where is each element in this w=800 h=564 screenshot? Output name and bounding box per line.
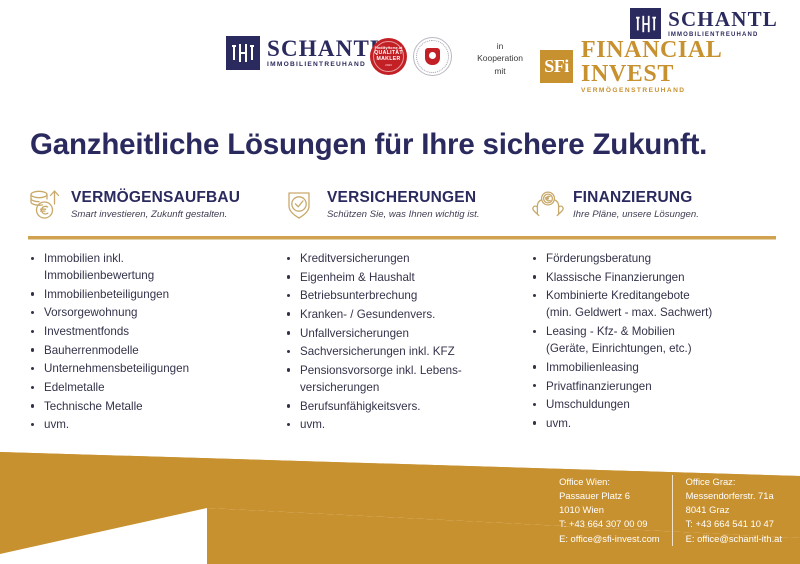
list-item-text: Klassische Finanzierungen xyxy=(546,269,776,286)
list-item: Eigenheim & Haushalt xyxy=(284,269,530,286)
list-item-text: Umschuldungen xyxy=(546,396,776,413)
list-item: Sachversicherungen inkl. KFZ xyxy=(284,343,530,360)
list-item: Technische Metalle xyxy=(28,398,284,415)
column-header: VERSICHERUNGEN Schützen Sie, was Ihnen w… xyxy=(284,186,530,232)
schantl-subtitle-topright: IMMOBILIENTREUHAND xyxy=(668,32,778,38)
hands-holding-coin-icon xyxy=(530,187,564,223)
schantl-name-topright: SCHANTL xyxy=(668,9,778,30)
list-item-text: Leasing - Kfz- & Mobilien xyxy=(546,323,776,340)
office-graz-block: Office Graz: Messendorferstr. 71a 8041 G… xyxy=(672,475,782,546)
list-item-text: Kombinierte Kreditangebote xyxy=(546,287,776,304)
list-versicherungen: KreditversicherungenEigenheim & Haushalt… xyxy=(284,250,530,434)
office-wien-phone[interactable]: T: +43 664 307 00 09 xyxy=(559,517,660,531)
list-item-text: Edelmetalle xyxy=(44,379,284,396)
list-item: Immobilien inkl.Immobilienbewertung xyxy=(28,250,284,284)
list-item: Leasing - Kfz- & Mobilien(Geräte, Einric… xyxy=(530,323,776,357)
list-item-text: Eigenheim & Haushalt xyxy=(300,269,530,286)
coins-euro-growth-icon xyxy=(28,187,62,223)
office-graz-phone[interactable]: T: +43 664 541 10 47 xyxy=(686,517,782,531)
column-subtitle: Schützen Sie, was Ihnen wichtig ist. xyxy=(327,209,480,220)
list-item: Immobilienbeteiligungen xyxy=(28,286,284,303)
list-item-text: Vorsorgewohnung xyxy=(44,304,284,321)
column-subtitle: Ihre Pläne, unsere Lösungen. xyxy=(573,209,699,220)
sfi-wordmark: FINANCIAL INVEST VERMÖGENSTREUHAND xyxy=(581,38,800,95)
list-item: Förderungsberatung xyxy=(530,250,776,267)
list-item: Vorsorgewohnung xyxy=(28,304,284,321)
list-item-text: uvm. xyxy=(44,416,284,433)
flyer-page: SCHANTL IMMOBILIENTREUHAND FindMyHome.at… xyxy=(0,0,800,564)
list-item: Pensionsvorsorge inkl. Lebens-versicheru… xyxy=(284,362,530,396)
coop-line-3: mit xyxy=(494,66,505,76)
schantl-logo-topright: SCHANTL IMMOBILIENTREUHAND xyxy=(630,8,778,39)
office-wien-city: 1010 Wien xyxy=(559,503,660,517)
column-titles: VERSICHERUNGEN Schützen Sie, was Ihnen w… xyxy=(327,186,480,220)
cooperation-text: in Kooperation mit xyxy=(477,40,523,77)
list-finanzierung: FörderungsberatungKlassische Finanzierun… xyxy=(530,250,776,432)
list-item-text: Unternehmensbeteiligungen xyxy=(44,360,284,377)
office-wien-title: Office Wien: xyxy=(559,475,660,489)
list-item: Unternehmensbeteiligungen xyxy=(28,360,284,377)
list-item-text-cont: versicherungen xyxy=(300,379,530,396)
list-item: Privatfinanzierungen xyxy=(530,378,776,395)
list-item-text: Betriebsunterbrechung xyxy=(300,287,530,304)
list-item: uvm. xyxy=(284,416,530,433)
column-versicherungen: VERSICHERUNGEN Schützen Sie, was Ihnen w… xyxy=(284,186,530,232)
list-item: Umschuldungen xyxy=(530,396,776,413)
list-item: uvm. xyxy=(28,416,284,433)
list-item-text-cont: Immobilienbewertung xyxy=(44,267,284,284)
office-graz-city: 8041 Graz xyxy=(686,503,782,517)
list-item-text: Pensionsvorsorge inkl. Lebens- xyxy=(300,362,530,379)
contact-blocks: Office Wien: Passauer Platz 6 1010 Wien … xyxy=(559,475,782,546)
schantl-wordmark-topright: SCHANTL IMMOBILIENTREUHAND xyxy=(668,9,778,38)
list-item-text: Unfallversicherungen xyxy=(300,325,530,342)
list-item-text: Technische Metalle xyxy=(44,398,284,415)
office-graz-street: Messendorferstr. 71a xyxy=(686,489,782,503)
list-item-text: Berufsunfähigkeitsvers. xyxy=(300,398,530,415)
list-item: Kranken- / Gesundenvers. xyxy=(284,306,530,323)
office-graz-title: Office Graz: xyxy=(686,475,782,489)
office-graz-email[interactable]: E: office@schantl-ith.at xyxy=(686,532,782,546)
coop-line-1: in xyxy=(497,41,504,51)
list-item-text: Sachversicherungen inkl. KFZ xyxy=(300,343,530,360)
column-finanzierung: FINANZIERUNG Ihre Pläne, unsere Lösungen… xyxy=(530,186,776,232)
list-item: Unfallversicherungen xyxy=(284,325,530,342)
list-item: Investmentfonds xyxy=(28,323,284,340)
column-titles: VERMÖGENSAUFBAU Smart investieren, Zukun… xyxy=(71,186,240,220)
list-item-text: Bauherrenmodelle xyxy=(44,342,284,359)
column-title: VERSICHERUNGEN xyxy=(327,189,480,206)
list-item-text: Kreditversicherungen xyxy=(300,250,530,267)
list-vermoegensaufbau: Immobilien inkl.ImmobilienbewertungImmob… xyxy=(28,250,284,434)
list-item-text: Immobilienleasing xyxy=(546,359,776,376)
qualitaets-makler-seal-icon: FindMyHome.at QUALITÄTMAKLER 2023 xyxy=(370,38,407,75)
page-title: Ganzheitliche Lösungen für Ihre sichere … xyxy=(30,128,707,162)
list-item-text-cont: (Geräte, Einrichtungen, etc.) xyxy=(546,340,776,357)
office-wien-block: Office Wien: Passauer Platz 6 1010 Wien … xyxy=(559,475,672,546)
logo-bar: SCHANTL IMMOBILIENTREUHAND FindMyHome.at… xyxy=(0,0,800,100)
seal-line1: FindMyHome.at xyxy=(375,46,403,50)
list-item: Edelmetalle xyxy=(28,379,284,396)
schantl-wordmark: SCHANTL IMMOBILIENTREUHAND xyxy=(267,37,387,69)
list-item: Betriebsunterbrechung xyxy=(284,287,530,304)
list-item-text-cont: (min. Geldwert - max. Sachwert) xyxy=(546,304,776,321)
sfi-financial-invest-logo: SFi FINANCIAL INVEST VERMÖGENSTREUHAND xyxy=(540,38,800,95)
ith-monogram-icon xyxy=(226,36,260,70)
list-item-text: Privatfinanzierungen xyxy=(546,378,776,395)
list-item: Klassische Finanzierungen xyxy=(530,269,776,286)
office-wien-email[interactable]: E: office@sfi-invest.com xyxy=(559,532,660,546)
list-item: Immobilienleasing xyxy=(530,359,776,376)
list-item-text: uvm. xyxy=(300,416,530,433)
list-item-text: Immobilien inkl. xyxy=(44,250,284,267)
immobilientreuhaender-seal-icon xyxy=(413,37,452,76)
schantl-name: SCHANTL xyxy=(267,37,387,60)
sfi-monogram-icon: SFi xyxy=(540,50,573,83)
list-item-text: Förderungsberatung xyxy=(546,250,776,267)
service-columns-lists: Immobilien inkl.ImmobilienbewertungImmob… xyxy=(28,250,776,435)
column-titles: FINANZIERUNG Ihre Pläne, unsere Lösungen… xyxy=(573,186,699,220)
column-vermoegensaufbau: VERMÖGENSAUFBAU Smart investieren, Zukun… xyxy=(28,186,284,232)
sfi-name: FINANCIAL INVEST xyxy=(581,38,800,86)
list-item-text: Investmentfonds xyxy=(44,323,284,340)
seal-line3: 2023 xyxy=(385,63,392,67)
column-header: FINANZIERUNG Ihre Pläne, unsere Lösungen… xyxy=(530,186,776,232)
list-item-text: uvm. xyxy=(546,415,776,432)
column-title: FINANZIERUNG xyxy=(573,189,699,206)
schantl-subtitle: IMMOBILIENTREUHAND xyxy=(267,62,387,69)
list-item-text: Kranken- / Gesundenvers. xyxy=(300,306,530,323)
column-subtitle: Smart investieren, Zukunft gestalten. xyxy=(71,209,240,220)
column-title: VERMÖGENSAUFBAU xyxy=(71,189,240,206)
service-columns-heads: VERMÖGENSAUFBAU Smart investieren, Zukun… xyxy=(28,186,776,232)
list-item: Berufsunfähigkeitsvers. xyxy=(284,398,530,415)
gold-divider-light xyxy=(28,239,776,240)
list-item: Kreditversicherungen xyxy=(284,250,530,267)
quality-seals: FindMyHome.at QUALITÄTMAKLER 2023 xyxy=(370,37,452,76)
list-item: Kombinierte Kreditangebote(min. Geldwert… xyxy=(530,287,776,321)
cooperation-note: in Kooperation mit xyxy=(470,40,530,77)
coop-line-2: Kooperation xyxy=(477,53,523,63)
ith-monogram-icon-topright xyxy=(630,8,661,39)
shield-check-icon xyxy=(284,187,318,223)
list-item: Bauherrenmodelle xyxy=(28,342,284,359)
schantl-logo: SCHANTL IMMOBILIENTREUHAND xyxy=(226,36,387,70)
list-item: uvm. xyxy=(530,415,776,432)
sfi-subtitle: VERMÖGENSTREUHAND xyxy=(581,88,800,95)
list-item-text: Immobilienbeteiligungen xyxy=(44,286,284,303)
column-header: VERMÖGENSAUFBAU Smart investieren, Zukun… xyxy=(28,186,284,232)
office-wien-street: Passauer Platz 6 xyxy=(559,489,660,503)
